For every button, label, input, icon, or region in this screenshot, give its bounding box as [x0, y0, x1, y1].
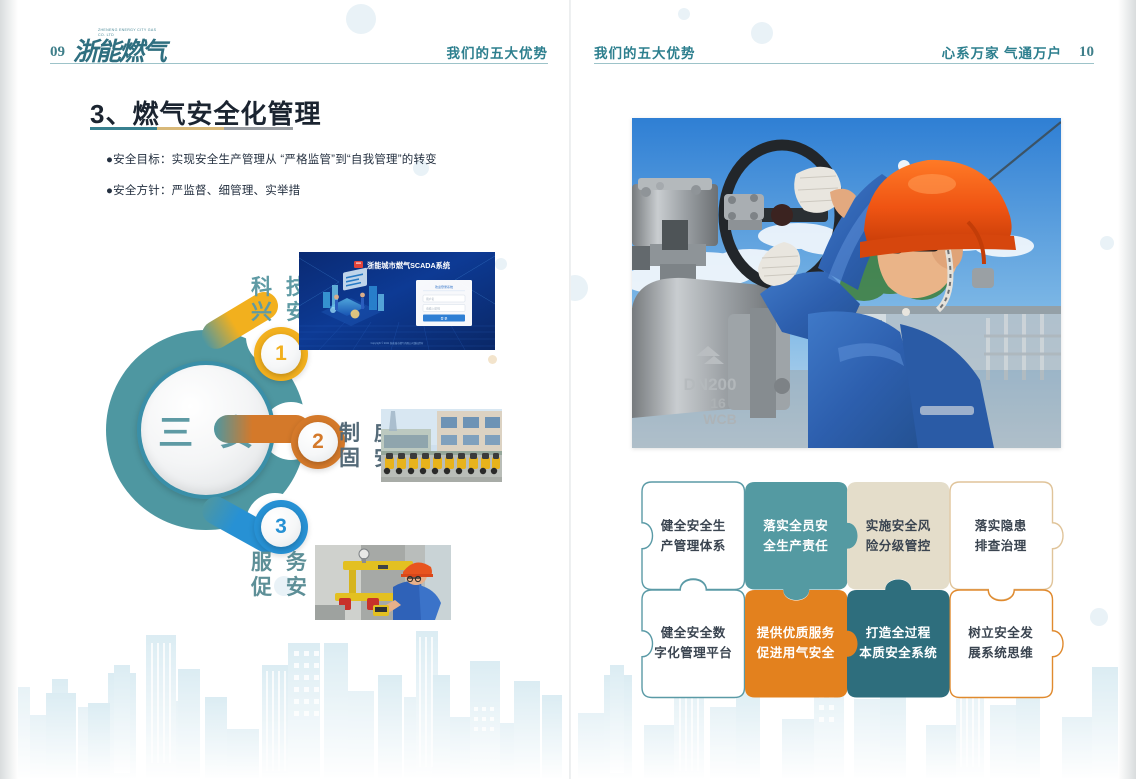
svg-text:WCB: WCB: [703, 411, 736, 427]
puzzle-cell-line1: 打造全过程: [866, 623, 931, 643]
page-spine-divider: [569, 0, 571, 779]
yellow-scooter-fleet-photo: [381, 409, 502, 482]
puzzle-cell-line2: 险分级管控: [866, 536, 931, 556]
puzzle-cell-line1: 健全安全数: [661, 623, 726, 643]
right-page-edge-shadow: [1118, 0, 1136, 779]
spoke-label-3: 服 务 促 安: [251, 550, 311, 600]
company-logo: 浙能燃气 ZHENENG ENERGY CITY GAS CO. LTD: [73, 28, 165, 62]
spoke-badge-2[interactable]: 2: [298, 422, 338, 462]
svg-text:Copyright © 2021 浙能城市燃气有限公司版权所: Copyright © 2021 浙能城市燃气有限公司版权所有: [371, 341, 424, 345]
puzzle-cell-line1: 落实全员安: [763, 516, 828, 536]
svg-text:用户名: 用户名: [426, 297, 435, 301]
spoke-badge-3[interactable]: 3: [261, 507, 301, 547]
puzzle-cell-line1: 健全安全生: [661, 516, 726, 536]
spoke-badge-2-number: 2: [312, 430, 324, 454]
right-page-number: 10: [1079, 44, 1094, 61]
spoke-label-3-line2: 促 安: [251, 575, 311, 600]
spoke-badge-1[interactable]: 1: [261, 334, 301, 374]
left-page: 浙能燃气 ZHENENG ENERGY CITY GAS CO. LTD 09 …: [18, 0, 570, 779]
puzzle-cell-line2: 本质安全系统: [859, 643, 937, 663]
bullet-item: ●安全目标：实现安全生产管理从 “严格监管”到“自我管理”的转变: [106, 151, 437, 167]
puzzle-cell-line2: 全生产责任: [763, 536, 828, 556]
spoke-label-3-line1: 服 务: [251, 550, 311, 575]
spoke-badge-3-number: 3: [275, 515, 287, 539]
page-title-underline: [90, 127, 293, 130]
puzzle-cell-line2: 字化管理平台: [654, 643, 732, 663]
puzzle-cell-line1: 落实隐患: [975, 516, 1027, 536]
slide-canvas: 浙能燃气 ZHENENG ENERGY CITY GAS CO. LTD 09 …: [0, 0, 1136, 779]
left-header-title: 我们的五大优势: [447, 42, 549, 62]
decorative-circle: [1100, 236, 1114, 250]
svg-text:16: 16: [710, 395, 726, 411]
svg-text:请输入密码: 请输入密码: [426, 306, 440, 310]
puzzle-cell-line2: 促进用气安全: [757, 643, 835, 663]
puzzle-cell-line2: 产管理体系: [661, 536, 726, 556]
svg-text:登 录: 登 录: [441, 315, 448, 320]
svg-text:浙能城市燃气SCADA系统: 浙能城市燃气SCADA系统: [367, 261, 451, 270]
right-header-slogan: 心系万家 气通万户: [942, 42, 1062, 62]
puzzle-cell-line1: 树立安全发: [968, 623, 1033, 643]
bullet-item: ●安全方针：严监督、细管理、实举措: [106, 182, 300, 198]
right-header-title: 我们的五大优势: [594, 42, 696, 62]
puzzle-cell-line1: 提供优质服务: [757, 623, 835, 643]
safety-measures-puzzle-grid: 健全安全生产管理体系落实全员安全生产责任实施安全风险分级管控落实隐患排查治理健全…: [642, 482, 1052, 697]
decorative-circle: [1090, 608, 1108, 626]
decorative-circle: [488, 355, 497, 364]
worker-turning-valve-wheel-photo: DN200 16 WCB: [632, 118, 1061, 448]
puzzle-cell-line2: 排查治理: [975, 536, 1027, 556]
page-title: 3、燃气安全化管理: [90, 94, 321, 131]
right-page: 我们的五大优势 心系万家 气通万户 10: [570, 0, 1118, 779]
puzzle-cell-line2: 展系统思维: [968, 643, 1033, 663]
spoke-badge-1-number: 1: [275, 342, 287, 366]
decorative-circle: [678, 8, 690, 20]
decorative-circle: [570, 275, 588, 301]
puzzle-cell-label: 打造全过程本质安全系统: [847, 590, 950, 698]
left-page-edge-shadow: [0, 0, 18, 779]
decorative-circle: [346, 4, 376, 34]
puzzle-cell-line1: 实施安全风: [866, 516, 931, 536]
puzzle-cell[interactable]: 打造全过程本质安全系统: [847, 590, 950, 698]
left-header-rule: [50, 63, 548, 64]
city-skyline-watermark: [18, 629, 570, 779]
svg-text:DN200: DN200: [684, 375, 737, 394]
left-page-number: 09: [50, 44, 65, 61]
decorative-circle: [495, 258, 507, 270]
logo-english-text: ZHENENG ENERGY CITY GAS CO. LTD: [98, 28, 160, 37]
right-header-rule: [594, 63, 1094, 64]
decorative-circle: [751, 22, 773, 44]
svg-text:欢迎登录系统: 欢迎登录系统: [435, 284, 453, 289]
scada-login-screenshot: 浙能城市燃气SCADA系统: [299, 252, 495, 350]
gas-meter-inspection-photo: [315, 545, 451, 620]
